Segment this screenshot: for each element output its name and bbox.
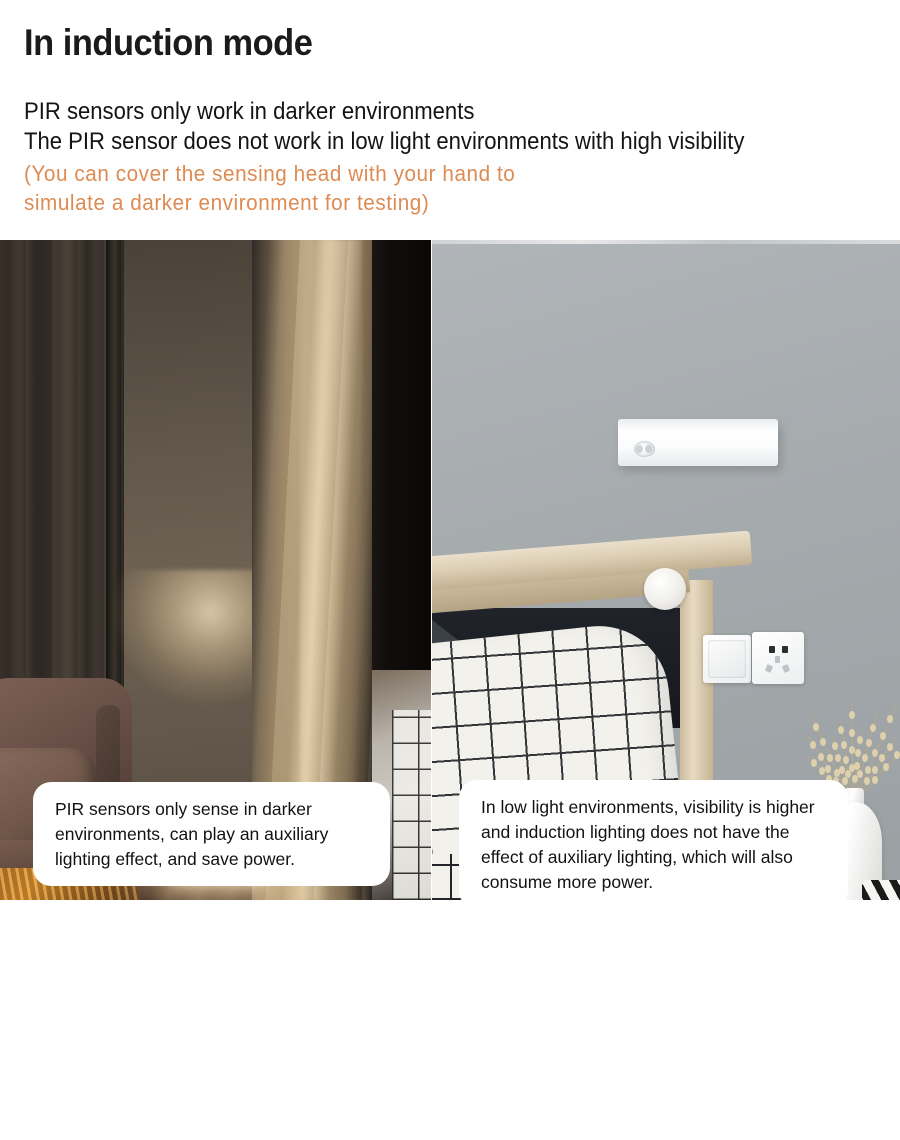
note-line-2: simulate a darker environment for testin… [24, 190, 429, 216]
flower-bud [843, 756, 849, 764]
socket-hole-left [769, 646, 775, 653]
caption-bubble-left: PIR sensors only sense in darker environ… [33, 782, 390, 886]
note-line-1: (You can cover the sensing head with you… [24, 161, 515, 187]
flower-bud [870, 724, 876, 732]
flower-bud [811, 759, 817, 767]
socket-hole-lower-right [782, 664, 790, 673]
lamp-top-bevel [618, 419, 778, 430]
flower-bud [887, 743, 893, 751]
socket-hole-lower-left [765, 664, 773, 673]
grid-pattern-cloth [392, 710, 431, 900]
flower-bud [849, 746, 855, 754]
subtitle-line-1: PIR sensors only work in darker environm… [24, 98, 474, 126]
flower-bud [865, 766, 871, 774]
socket-hole-right [782, 646, 788, 653]
caption-right-text: In low light environments, visibility is… [481, 795, 828, 895]
led-sensor-light-off [618, 419, 778, 466]
flower-bud [839, 766, 845, 774]
flower-bud [872, 766, 878, 774]
flower-bud [818, 753, 824, 761]
flower-bud [854, 762, 860, 770]
ceiling-edge [432, 240, 900, 244]
flower-bud [845, 770, 851, 778]
page-title: In induction mode [24, 22, 312, 64]
socket-hole-top [775, 656, 780, 663]
wall-switch[interactable] [703, 635, 751, 683]
flower-bud [857, 736, 863, 744]
pir-sensor-icon [634, 441, 655, 457]
zebra-pattern-object [862, 880, 900, 900]
flower-bud [862, 754, 868, 762]
flower-bud [880, 732, 886, 740]
flower-bud [838, 726, 844, 734]
header-text-block: In induction mode PIR sensors only work … [0, 0, 900, 240]
flower-bud [849, 729, 855, 737]
subtitle-line-2: The PIR sensor does not work in low ligh… [24, 128, 744, 156]
flower-bud [883, 763, 889, 771]
flower-bud [841, 741, 847, 749]
flower-bud [866, 739, 872, 747]
caption-bubble-right: In low light environments, visibility is… [459, 780, 848, 909]
flower-bud [855, 749, 861, 757]
flower-bud [894, 751, 900, 759]
flower-bud [872, 749, 878, 757]
flower-bud [813, 723, 819, 731]
flower-bud [827, 754, 833, 762]
flower-bud [872, 776, 878, 784]
flower-bud [849, 711, 855, 719]
pom-pom [644, 568, 686, 610]
caption-left-text: PIR sensors only sense in darker environ… [55, 797, 370, 872]
flower-bud [819, 767, 825, 775]
power-socket[interactable] [752, 632, 804, 684]
flower-bud [879, 754, 885, 762]
photo-divider [431, 480, 432, 1140]
